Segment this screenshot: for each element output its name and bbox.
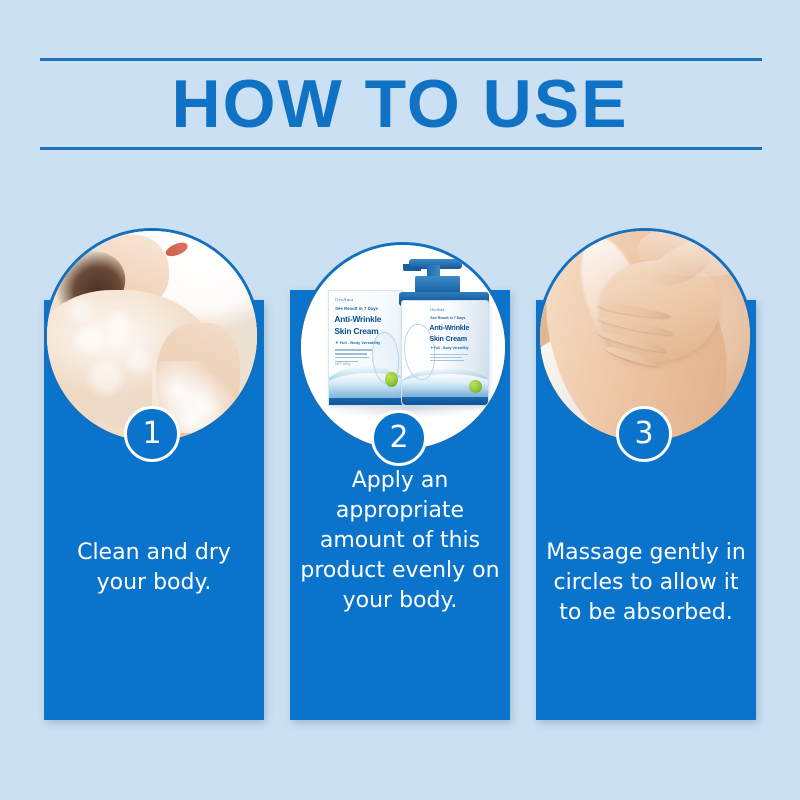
jar-body-silhouette <box>404 324 435 380</box>
step-caption-1: Clean and dry your body. <box>50 538 258 598</box>
step-caption-2: Apply an appropriate amount of this prod… <box>296 466 504 616</box>
jar-product-name-line2: Skin Cream <box>429 334 467 343</box>
steps-container: 1 Clean and dry your body. OroAura See R… <box>0 0 800 800</box>
product-jar: OroAura See Result in 7 Days Anti-Wrinkl… <box>401 300 489 406</box>
jar-green-apple-icon <box>469 380 482 392</box>
step-number-badge-2: 2 <box>371 410 427 466</box>
carton-subtitle: ✦ Full - Body Versatility <box>335 340 380 345</box>
carton-brand-label: OroAura <box>335 297 353 302</box>
step-number-badge-3: 3 <box>616 406 672 462</box>
carton-product-name-line2: Skin Cream <box>334 326 378 336</box>
jar-feature-lines <box>430 354 468 363</box>
product-carton: OroAura See Result in 7 Days Anti-Wrinkl… <box>328 290 403 406</box>
jar-brand-label: OroAura <box>430 307 444 312</box>
step-caption-3: Massage gently in circles to allow it to… <box>542 538 750 628</box>
step-number-badge-1: 1 <box>124 406 180 462</box>
photo-3-fingers <box>595 302 692 373</box>
jar-subtitle: ✦ Full - Body Versatility <box>430 346 468 350</box>
jar-tagline: See Result in 7 Days <box>430 316 465 320</box>
carton-product-name-line1: Anti-Wrinkle <box>334 314 381 324</box>
carton-net-weight: NET 500g <box>335 362 350 366</box>
jar-product-name-line1: Anti-Wrinkle <box>429 323 469 332</box>
carton-green-apple-icon <box>385 372 397 387</box>
carton-tagline: See Result in 7 Days <box>335 306 378 311</box>
